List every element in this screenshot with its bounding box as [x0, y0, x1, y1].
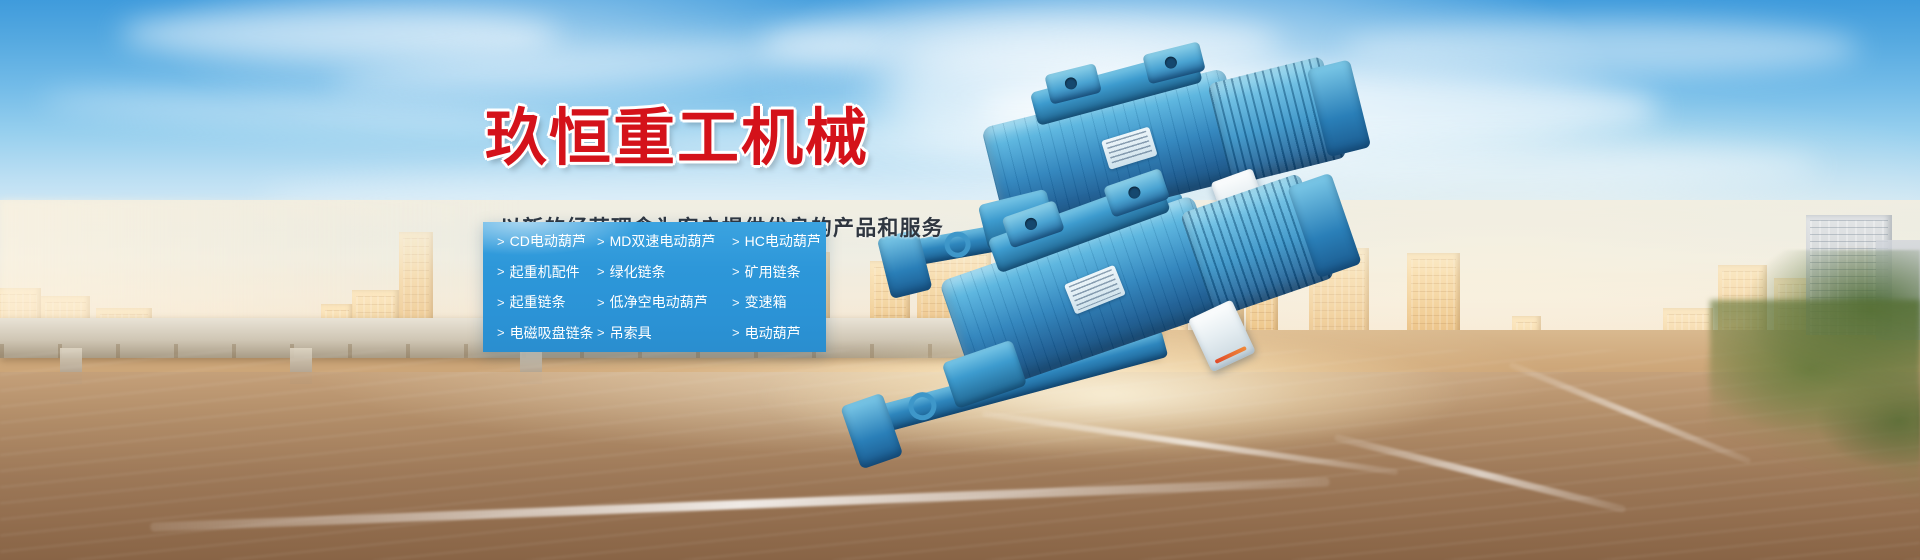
cloud-wisp — [1340, 20, 1860, 76]
product-list-grid: >CD电动葫芦>MD双速电动葫芦>HC电动葫芦>起重机配件>绿化链条>矿用链条>… — [483, 222, 826, 352]
product-link-label: 电磁吸盘链条 — [510, 326, 594, 340]
product-link[interactable]: >电动葫芦 — [732, 326, 840, 340]
chevron-right-icon: > — [732, 296, 740, 309]
product-link-label: 起重机配件 — [510, 265, 580, 279]
product-link[interactable]: >吊索具 — [597, 326, 732, 340]
product-link[interactable]: >变速箱 — [732, 295, 840, 309]
cloud-wisp — [39, 82, 560, 143]
product-link-label: 绿化链条 — [610, 265, 666, 279]
chevron-right-icon: > — [732, 235, 740, 248]
product-link[interactable]: >绿化链条 — [597, 265, 732, 279]
product-link-label: HC电动葫芦 — [745, 234, 821, 248]
product-link-label: 变速箱 — [745, 295, 787, 309]
product-link[interactable]: >起重机配件 — [497, 265, 597, 279]
page-title: 玖恒重工机械 — [485, 108, 869, 170]
product-link[interactable]: >起重链条 — [497, 295, 597, 309]
product-link[interactable]: >电磁吸盘链条 — [497, 326, 597, 340]
chevron-right-icon: > — [497, 235, 505, 248]
chevron-right-icon: > — [497, 326, 505, 339]
product-link-label: MD双速电动葫芦 — [610, 234, 716, 248]
product-list-panel: >CD电动葫芦>MD双速电动葫芦>HC电动葫芦>起重机配件>绿化链条>矿用链条>… — [483, 222, 826, 352]
chevron-right-icon: > — [497, 265, 505, 278]
chevron-right-icon: > — [597, 326, 605, 339]
cloud-wisp — [120, 8, 560, 60]
product-link-label: 矿用链条 — [745, 265, 801, 279]
product-link[interactable]: >矿用链条 — [732, 265, 840, 279]
chevron-right-icon: > — [732, 326, 740, 339]
product-link-label: 电动葫芦 — [745, 326, 801, 340]
chevron-right-icon: > — [497, 296, 505, 309]
product-link[interactable]: >HC电动葫芦 — [732, 234, 840, 248]
product-link-label: 低净空电动葫芦 — [610, 295, 708, 309]
product-link[interactable]: >CD电动葫芦 — [497, 234, 597, 248]
product-link[interactable]: >低净空电动葫芦 — [597, 295, 732, 309]
chevron-right-icon: > — [597, 235, 605, 248]
product-link[interactable]: >MD双速电动葫芦 — [597, 234, 732, 248]
hoist-side-bracket — [942, 340, 1028, 409]
product-link-label: 起重链条 — [510, 295, 566, 309]
chevron-right-icon: > — [597, 265, 605, 278]
chevron-right-icon: > — [732, 265, 740, 278]
hero-banner: 玖恒重工机械 以新的经营理念为客户提供优良的产品和服务 >CD电动葫芦>MD双速… — [0, 0, 1920, 560]
product-link-label: CD电动葫芦 — [510, 234, 586, 248]
product-link-label: 吊索具 — [610, 326, 652, 340]
roadside-slope — [1710, 300, 1920, 500]
chevron-right-icon: > — [597, 296, 605, 309]
